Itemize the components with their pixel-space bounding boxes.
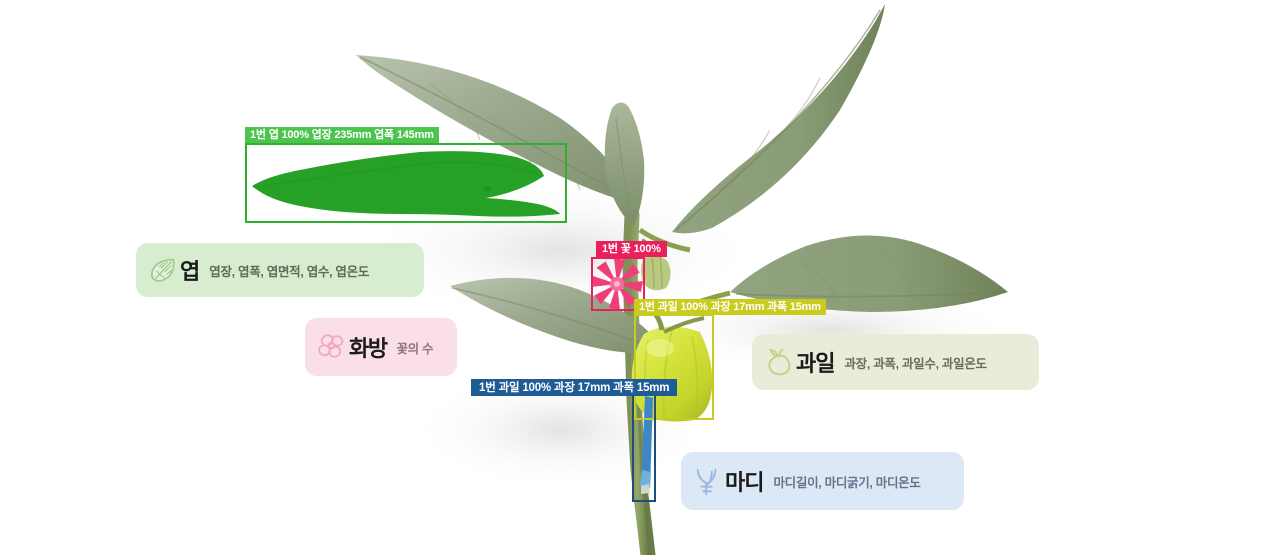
detection-box-node[interactable] (632, 392, 656, 502)
legend-card-flower[interactable]: 화방 꽃의 수 (305, 318, 457, 376)
detection-label-flower[interactable]: 1번 꽃 100% (596, 241, 667, 257)
legend-subtitle-leaf: 엽장, 엽폭, 엽면적, 엽수, 엽온도 (209, 261, 369, 280)
legend-subtitle-node: 마디길이, 마디굵기, 마디온도 (773, 472, 920, 491)
detection-label-node[interactable]: 1번 과일 100% 과장 17mm 과폭 15mm (471, 379, 677, 396)
legend-card-leaf[interactable]: 엽 엽장, 엽폭, 엽면적, 엽수, 엽온도 (136, 243, 424, 297)
flower-icon (317, 332, 347, 362)
legend-title-fruit: 과일 (796, 346, 834, 378)
legend-title-flower: 화방 (349, 331, 386, 363)
legend-card-fruit[interactable]: 과일 과장, 과폭, 과일수, 과일온도 (752, 334, 1039, 390)
annotated-plant-canvas: 1번 엽 100% 엽장 235mm 엽폭 145mm 1번 꽃 100% 1번… (0, 0, 1280, 555)
leaf-icon (148, 255, 178, 285)
legend-title-node: 마디 (725, 465, 763, 497)
detection-label-leaf[interactable]: 1번 엽 100% 엽장 235mm 엽폭 145mm (245, 127, 439, 143)
legend-title-leaf: 엽 (180, 254, 199, 286)
fruit-icon (764, 347, 794, 377)
legend-subtitle-fruit: 과장, 과폭, 과일수, 과일온도 (844, 353, 986, 372)
legend-card-node[interactable]: 마디 마디길이, 마디굵기, 마디온도 (681, 452, 964, 510)
detection-label-fruit[interactable]: 1번 과일 100% 과장 17mm 과폭 15mm (634, 299, 826, 315)
detection-box-leaf[interactable] (245, 143, 567, 223)
stem-node-icon (693, 466, 723, 496)
legend-subtitle-flower: 꽃의 수 (396, 338, 433, 357)
